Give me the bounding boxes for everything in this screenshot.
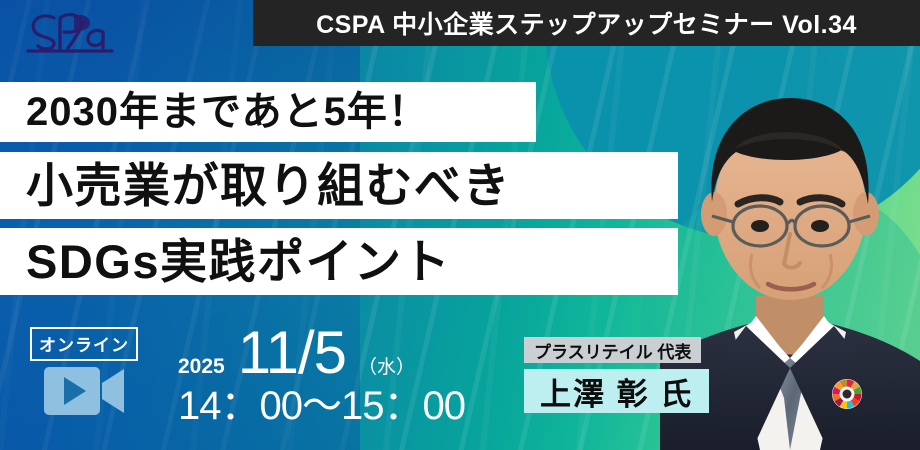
event-time: 14：00〜15：00: [178, 373, 465, 431]
headline-line-3: SDGs実践ポイント: [26, 238, 451, 285]
sdgs-wheel-pin: [832, 379, 862, 409]
headline-line-1: 2030年まであと5年！: [26, 92, 429, 132]
seminar-header-title: CSPA 中小企業ステップアップセミナー Vol.34: [316, 5, 857, 41]
speaker-name-label: 上澤 彰 氏: [540, 369, 693, 414]
video-camera-glyph: [44, 363, 126, 419]
speaker-organization-label: プラスリテイル 代表: [534, 338, 691, 363]
online-format-badge: オンライン: [30, 327, 138, 361]
headline-box-1: 2030年まであと5年！: [0, 82, 536, 142]
video-camera-icon: [44, 363, 126, 419]
cspa-logo-mark: [8, 4, 128, 56]
speaker-name-plate: 上澤 彰 氏: [524, 369, 709, 413]
online-badge-label: オンライン: [39, 336, 129, 355]
header-ribbon: CSPA 中小企業ステップアップセミナー Vol.34: [253, 0, 920, 46]
seminar-banner: CSPA 中小企業ステップアップセミナー Vol.34 2030年まであと5年！…: [0, 0, 920, 450]
cspa-logo[interactable]: [8, 4, 128, 56]
headline-box-3: SDGs実践ポイント: [0, 228, 678, 295]
speaker-organization-plate: プラスリテイル 代表: [524, 337, 701, 363]
headline-line-2: 小売業が取り組むべき: [26, 162, 511, 209]
headline-box-2: 小売業が取り組むべき: [0, 152, 678, 219]
